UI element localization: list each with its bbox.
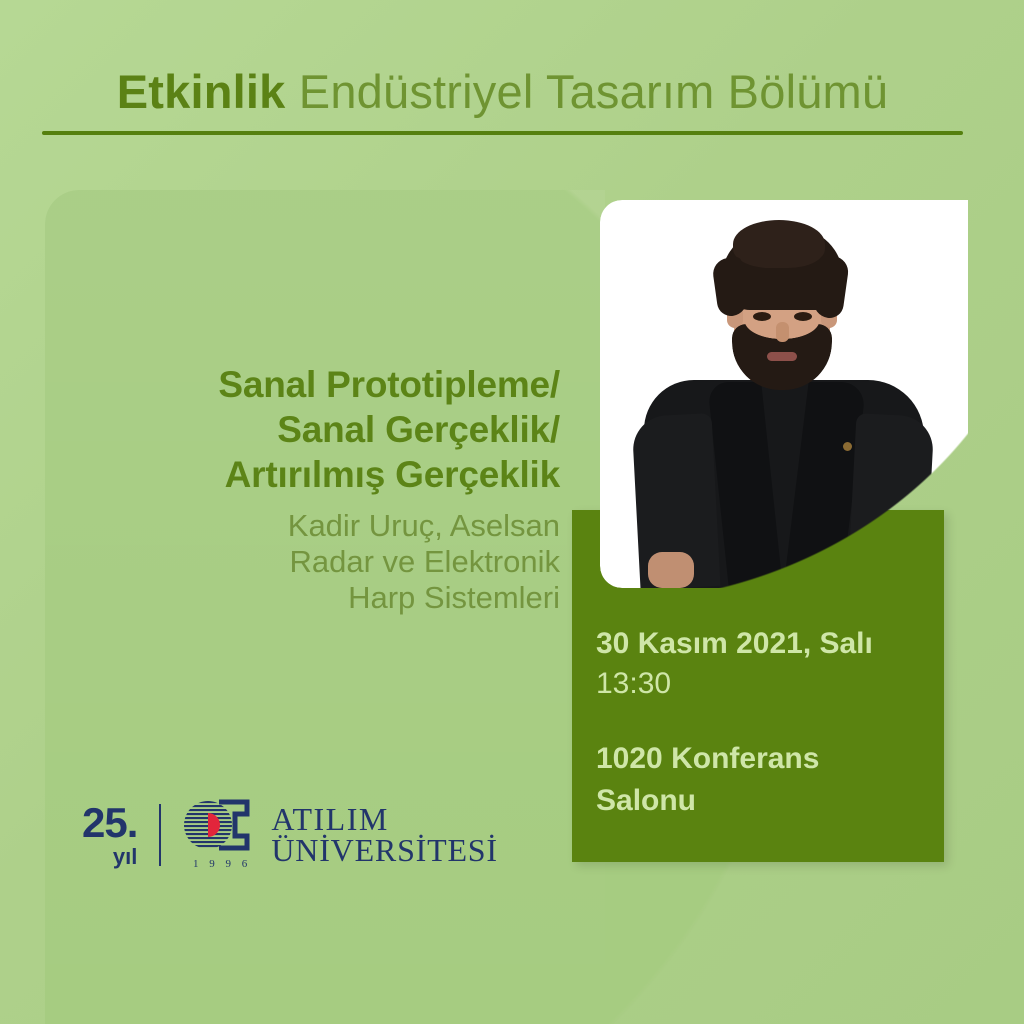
logo-vertical-divider xyxy=(159,804,161,866)
portrait-hand-left xyxy=(648,552,694,588)
speaker-photo-card xyxy=(600,200,968,588)
portrait-mouth xyxy=(767,352,797,361)
speaker-info: Kadir Uruç, Aselsan Radar ve Elektronik … xyxy=(60,508,560,616)
speaker-line-2: Radar ve Elektronik xyxy=(60,544,560,580)
portrait-lapel-pin xyxy=(843,442,852,451)
university-wordmark: ATILIM ÜNİVERSİTESİ xyxy=(271,804,497,867)
header-title-bold: Etkinlik xyxy=(117,65,286,118)
university-brand: 1 9 9 6 ATILIM ÜNİVERSİTESİ xyxy=(183,797,497,873)
event-time: 13:30 xyxy=(596,665,671,703)
poster-header: Etkinlik Endüstriyel Tasarım Bölümü xyxy=(42,62,963,122)
event-title-line-2: Sanal Gerçeklik/ xyxy=(60,407,560,452)
event-title-line-3: Artırılmış Gerçeklik xyxy=(60,452,560,497)
event-venue: 1020 Konferans Salonu xyxy=(596,738,926,822)
portrait-eye-left xyxy=(753,312,771,321)
header-title: Etkinlik Endüstriyel Tasarım Bölümü xyxy=(42,62,963,122)
speaker-line-3: Harp Sistemleri xyxy=(60,580,560,616)
university-logo-lockup: 25. yıl 1 9 9 6 xyxy=(82,795,498,875)
event-poster: Etkinlik Endüstriyel Tasarım Bölümü Sana… xyxy=(0,0,1024,1024)
anniversary-word: yıl xyxy=(113,846,137,868)
university-name-line-2: ÜNİVERSİTESİ xyxy=(271,835,497,866)
event-title-line-1: Sanal Prototipleme/ xyxy=(60,362,560,407)
portrait-hair-top xyxy=(733,220,825,268)
event-title: Sanal Prototipleme/ Sanal Gerçeklik/ Art… xyxy=(60,362,560,497)
portrait-nose xyxy=(776,322,789,342)
anniversary-number: 25. xyxy=(82,802,137,844)
event-date: 30 Kasım 2021, Salı xyxy=(596,625,873,663)
anniversary-badge: 25. yıl xyxy=(82,802,137,868)
portrait-eye-right xyxy=(794,312,812,321)
university-name-line-1: ATILIM xyxy=(271,804,497,835)
header-title-light: Endüstriyel Tasarım Bölümü xyxy=(299,65,888,118)
speaker-portrait-image xyxy=(600,200,968,588)
logo-year: 1 9 9 6 xyxy=(193,858,251,870)
portrait-hand-right xyxy=(872,552,916,588)
atilim-logo-icon: 1 9 9 6 xyxy=(183,797,261,873)
speaker-line-1: Kadir Uruç, Aselsan xyxy=(60,508,560,544)
header-divider xyxy=(42,131,963,135)
